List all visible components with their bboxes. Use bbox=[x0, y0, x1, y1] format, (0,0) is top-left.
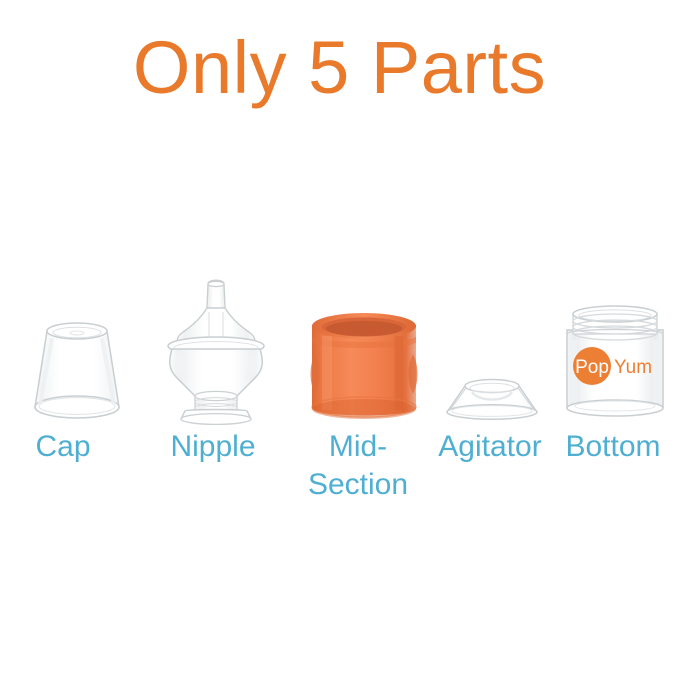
part-image-agitator bbox=[438, 370, 546, 426]
part-label-agitator: Agitator bbox=[424, 428, 556, 466]
part-image-cap bbox=[18, 308, 136, 426]
popyum-logo-mark-text: Pop bbox=[575, 357, 609, 378]
bottle-midsection-ring-icon bbox=[303, 306, 425, 426]
bottle-nipple-teat-icon bbox=[155, 278, 277, 426]
part-label-cap: Cap bbox=[8, 428, 118, 466]
bottle-bottom-jar-icon: Pop Yum bbox=[556, 304, 674, 426]
part-image-nipple bbox=[155, 278, 277, 426]
part-label-bottom: Bottom bbox=[548, 428, 678, 466]
product-parts-infographic: Only 5 Parts bbox=[0, 0, 679, 679]
page-title: Only 5 Parts bbox=[0, 22, 679, 114]
parts-label-row: Cap Nipple Mid- Section Agitator Bottom bbox=[0, 428, 679, 508]
parts-image-row: Pop Yum bbox=[0, 276, 679, 426]
bottle-cap-dome-icon bbox=[18, 308, 136, 426]
popyum-logo-word-text: Yum bbox=[614, 357, 652, 378]
part-label-midsection: Mid- Section bbox=[296, 428, 420, 504]
part-image-bottom: Pop Yum bbox=[556, 304, 674, 426]
part-image-midsection bbox=[303, 306, 425, 426]
bottle-agitator-disc-icon bbox=[438, 370, 546, 426]
part-label-nipple: Nipple bbox=[148, 428, 278, 466]
